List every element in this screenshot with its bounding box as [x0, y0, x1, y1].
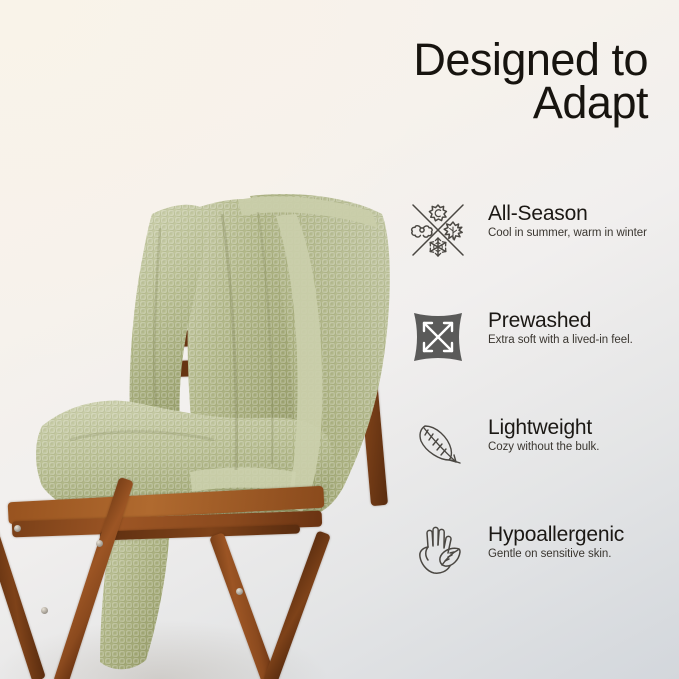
feature-text: Prewashed Extra soft with a lived-in fee… — [488, 309, 679, 348]
chair-bolt — [236, 588, 243, 595]
feature-item-prewashed: Prewashed Extra soft with a lived-in fee… — [400, 303, 679, 410]
hand-leaf-icon — [408, 521, 468, 581]
product-infographic: Designed to Adapt — [0, 0, 679, 679]
feather-icon — [408, 414, 468, 474]
page-title-line2: Adapt — [398, 81, 648, 124]
chair-bolt — [41, 607, 48, 614]
feature-item-hypoallergenic: Hypoallergenic Gentle on sensitive skin. — [400, 517, 679, 624]
feature-title: Prewashed — [488, 309, 679, 333]
feature-item-lightweight: Lightweight Cozy without the bulk. — [400, 410, 679, 517]
feature-item-all-season: All-Season Cool in summer, warm in winte… — [400, 196, 679, 303]
feature-title: Hypoallergenic — [488, 523, 679, 547]
content-panel: Designed to Adapt — [392, 0, 679, 679]
page-title-line1: Designed to — [398, 38, 648, 81]
chair-bolt — [96, 540, 103, 547]
feature-text: Hypoallergenic Gentle on sensitive skin. — [488, 523, 679, 562]
chair-bolt — [14, 525, 21, 532]
blanket-shape — [0, 0, 400, 679]
feature-subtitle: Cool in summer, warm in winter — [488, 227, 679, 241]
feature-title: Lightweight — [488, 416, 679, 440]
feature-subtitle: Extra soft with a lived-in feel. — [488, 334, 679, 348]
feature-subtitle: Cozy without the bulk. — [488, 441, 679, 455]
product-photo — [0, 0, 400, 679]
feature-text: All-Season Cool in summer, warm in winte… — [488, 202, 679, 241]
feature-list: All-Season Cool in summer, warm in winte… — [400, 196, 679, 624]
feature-text: Lightweight Cozy without the bulk. — [488, 416, 679, 455]
feature-title: All-Season — [488, 202, 679, 226]
four-seasons-icon — [408, 200, 468, 260]
page-title: Designed to Adapt — [398, 38, 648, 124]
feature-subtitle: Gentle on sensitive skin. — [488, 548, 679, 562]
prewashed-cushion-icon — [408, 307, 468, 367]
